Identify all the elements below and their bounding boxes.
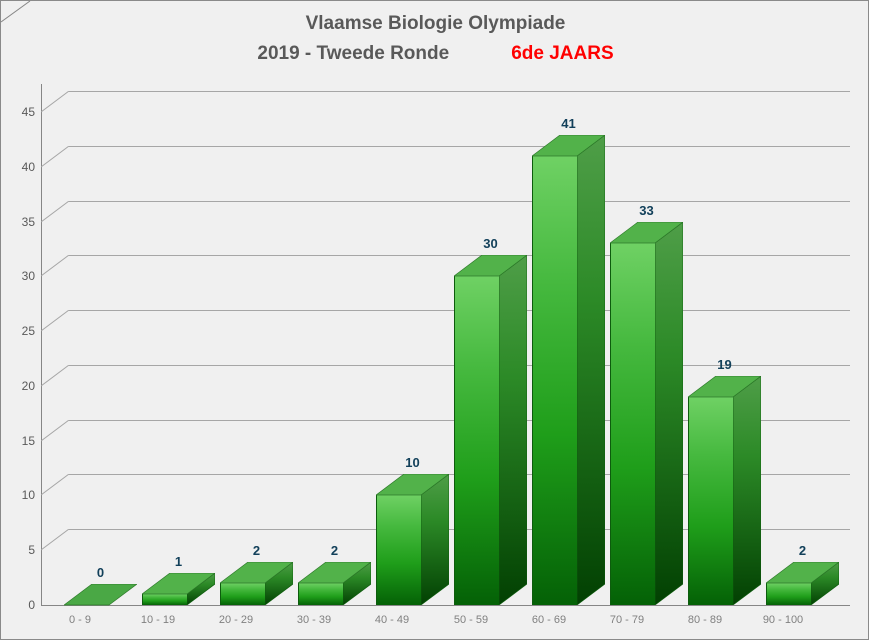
gridline	[69, 91, 850, 92]
y-axis-tick-label: 0	[9, 599, 35, 611]
bar-3[interactable]	[220, 562, 293, 605]
bar-front-face	[532, 156, 577, 605]
bar-top-face	[766, 562, 839, 584]
y-axis-tick-label: 10	[9, 489, 35, 501]
y-axis-tick-label: 45	[9, 106, 35, 118]
bar-top-face	[454, 255, 527, 277]
x-axis-tick-label: 0 - 9	[41, 614, 119, 627]
y-axis-tick-label: 20	[9, 380, 35, 392]
y-axis-tick-label: 40	[9, 161, 35, 173]
gridline-depth-connector	[41, 255, 70, 277]
bar-value-label: 30	[444, 237, 537, 251]
bar-front-face	[688, 397, 733, 605]
x-axis-tick-label: 40 - 49	[353, 614, 431, 627]
x-axis-tick-label: 10 - 19	[119, 614, 197, 627]
x-axis-tick-label: 60 - 69	[510, 614, 588, 627]
gridline-depth-connector	[41, 365, 70, 387]
x-axis-tick-label: 50 - 59	[432, 614, 510, 627]
y-axis-tick-label: 25	[9, 325, 35, 337]
bar-top-face	[298, 562, 371, 584]
bar-front-face	[298, 583, 343, 605]
bar-4[interactable]	[298, 562, 371, 605]
bar-front-face	[142, 594, 187, 605]
gridline-depth-connector	[41, 420, 70, 442]
gridline-depth-connector	[41, 310, 70, 332]
floor-left-edge	[1, 1, 36, 23]
x-axis-tick-label: 90 - 100	[744, 614, 822, 627]
bar-7[interactable]	[532, 135, 605, 605]
x-axis-tick-label: 20 - 29	[197, 614, 275, 627]
x-axis-tick-label: 70 - 79	[588, 614, 666, 627]
bar-10[interactable]	[766, 562, 839, 605]
gridline-depth-connector	[41, 474, 70, 496]
bar-zero-footprint	[64, 584, 137, 606]
plot-area: 051015202530354045 012210304133192 0 - 9…	[1, 1, 869, 640]
x-axis-line	[41, 605, 850, 606]
gridline-depth-connector	[41, 91, 70, 113]
y-axis-tick-label: 15	[9, 435, 35, 447]
bar-value-label: 19	[678, 358, 771, 372]
bar-9[interactable]	[688, 376, 761, 605]
bar-front-face	[766, 583, 811, 605]
bar-front-face	[220, 583, 265, 605]
bar-side-face	[655, 222, 683, 605]
gridline-depth-connector	[41, 529, 70, 551]
gridline	[69, 146, 850, 147]
x-axis-tick-label: 30 - 39	[275, 614, 353, 627]
bar-value-label: 10	[366, 456, 459, 470]
bar-value-label: 41	[522, 117, 615, 131]
bar-top-face	[610, 222, 683, 244]
bar-1[interactable]	[64, 584, 137, 605]
chart-container: Vlaamse Biologie Olympiade 2019 - Tweede…	[0, 0, 869, 640]
bar-top-face	[688, 376, 761, 398]
bar-2[interactable]	[142, 573, 215, 605]
x-axis-tick-label: 80 - 89	[666, 614, 744, 627]
bar-side-face	[499, 255, 527, 605]
bar-side-face	[733, 376, 761, 605]
bar-front-face	[376, 495, 421, 605]
y-axis-tick-label: 35	[9, 216, 35, 228]
y-axis-tick-label: 5	[9, 544, 35, 556]
bar-front-face	[454, 276, 499, 605]
bar-top-face	[220, 562, 293, 584]
bar-8[interactable]	[610, 222, 683, 605]
bar-6[interactable]	[454, 255, 527, 605]
bar-value-label: 2	[288, 544, 381, 558]
bar-5[interactable]	[376, 474, 449, 605]
bar-front-face	[610, 243, 655, 605]
bar-top-face	[376, 474, 449, 496]
gridline-depth-connector	[41, 201, 70, 223]
bar-top-face	[532, 135, 605, 157]
y-axis-tick-label: 30	[9, 270, 35, 282]
bar-top-face	[142, 573, 215, 595]
bar-value-label: 33	[600, 204, 693, 218]
gridline-depth-connector	[41, 146, 70, 168]
bar-value-label: 2	[756, 544, 849, 558]
gridline	[69, 201, 850, 202]
